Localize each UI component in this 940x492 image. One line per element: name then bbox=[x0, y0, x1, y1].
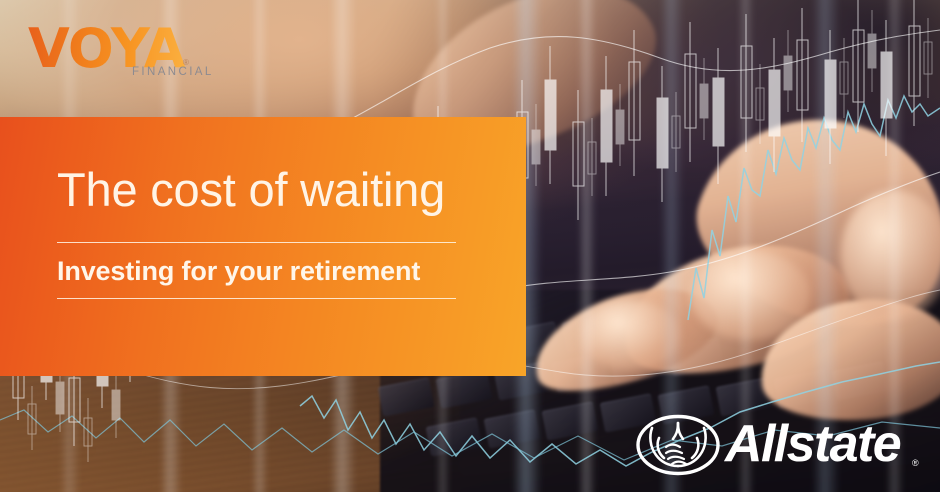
allstate-logo: Allstate ® bbox=[635, 412, 925, 484]
marketing-banner: VOYA ® FINANCIAL The cost of waiting Inv… bbox=[0, 0, 940, 492]
title-panel: The cost of waiting Investing for your r… bbox=[0, 117, 526, 376]
page-title: The cost of waiting bbox=[57, 165, 457, 215]
page-subtitle: Investing for your retirement bbox=[57, 243, 457, 285]
voya-tagline: FINANCIAL bbox=[132, 66, 214, 78]
allstate-wordmark: Allstate bbox=[725, 418, 900, 470]
allstate-registered-mark: ® bbox=[912, 458, 919, 468]
voya-financial-logo: VOYA ® FINANCIAL bbox=[28, 22, 213, 84]
allstate-good-hands-symbol bbox=[635, 414, 721, 476]
title-panel-content: The cost of waiting Investing for your r… bbox=[57, 165, 457, 299]
divider-bottom bbox=[57, 298, 456, 299]
